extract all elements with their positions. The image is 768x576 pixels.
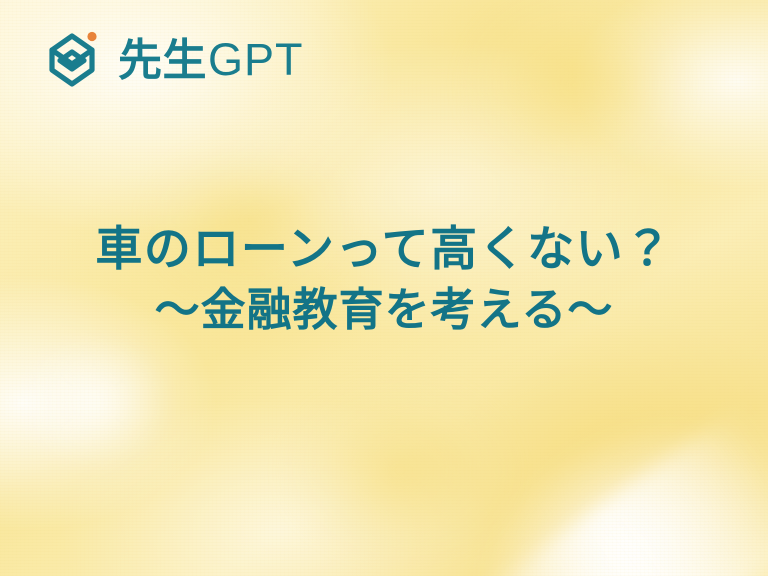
brand-name: 先生 GPT xyxy=(118,37,304,83)
title-line-1: 車のローンって高くない？ xyxy=(0,218,768,280)
title-slide: 先生 GPT 車のローンって高くない？ 〜金融教育を考える〜 xyxy=(0,0,768,576)
brand-name-en: GPT xyxy=(208,37,304,82)
orange-dot-icon xyxy=(87,32,96,41)
slide-title: 車のローンって高くない？ 〜金融教育を考える〜 xyxy=(0,218,768,339)
title-line-2: 〜金融教育を考える〜 xyxy=(0,280,768,339)
brand-lockup: 先生 GPT xyxy=(40,28,304,92)
brand-name-jp: 先生 xyxy=(118,39,207,83)
graduation-cap-icon xyxy=(40,28,106,92)
